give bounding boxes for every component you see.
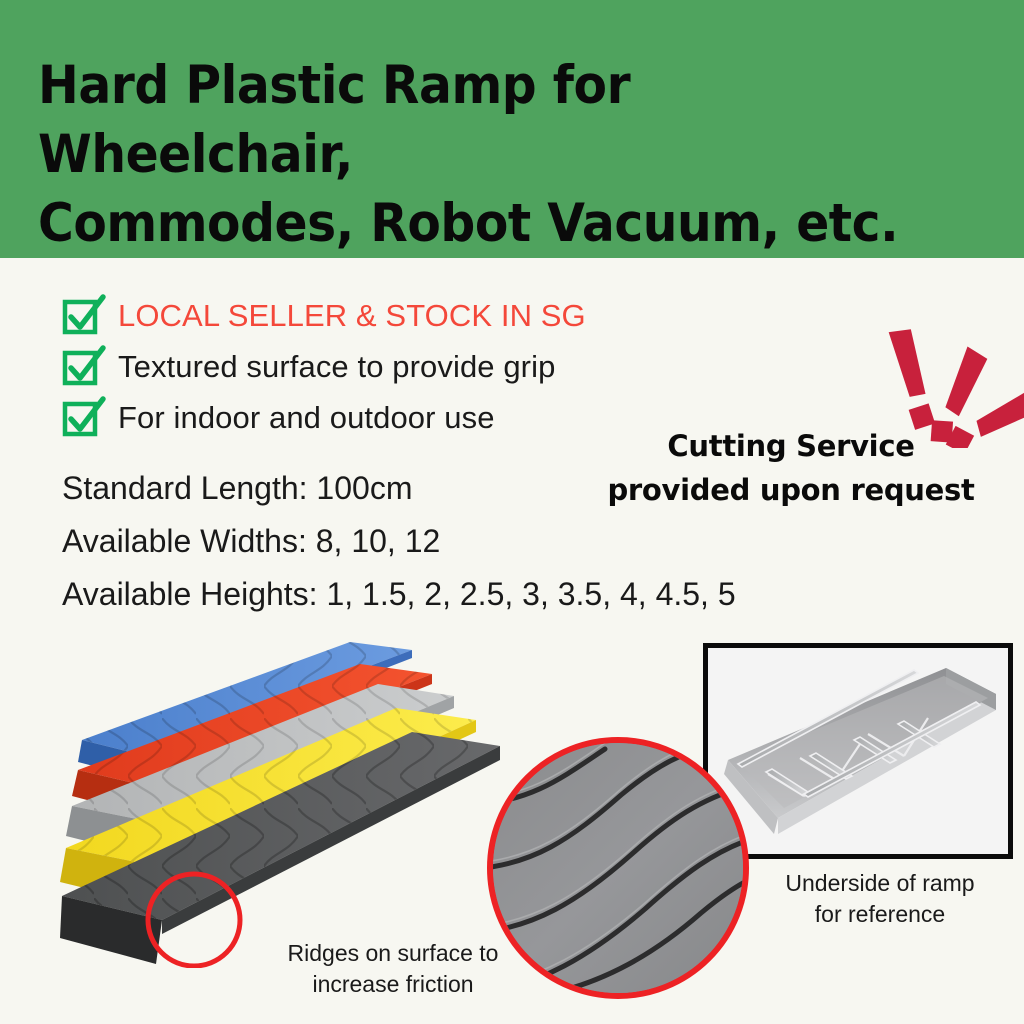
cutting-service-line-1: Cutting Service	[586, 424, 996, 468]
list-item-label: Textured surface to provide grip	[118, 349, 555, 385]
list-item-label: For indoor and outdoor use	[118, 400, 495, 436]
cutting-service-badge: Cutting Service provided upon request	[586, 424, 996, 512]
page-title: Hard Plastic Ramp for Wheelchair, Commod…	[38, 52, 912, 259]
checkbox-checked-icon	[62, 296, 102, 336]
list-item: Textured surface to provide grip	[62, 341, 682, 392]
ridge-callout-line-2: increase friction	[268, 969, 518, 1000]
header-banner: Hard Plastic Ramp for Wheelchair, Commod…	[0, 0, 1024, 258]
checkbox-checked-icon	[62, 347, 102, 387]
page-title-line-2: Commodes, Robot Vacuum, etc.	[38, 190, 912, 259]
spec-available-heights: Available Heights: 1, 1.5, 2, 2.5, 3, 3.…	[62, 568, 902, 621]
checkbox-checked-icon	[62, 398, 102, 438]
cutting-service-line-2: provided upon request	[586, 468, 996, 512]
page-title-line-1: Hard Plastic Ramp for Wheelchair,	[38, 52, 912, 190]
list-item-label: LOCAL SELLER & STOCK IN SG	[118, 298, 586, 334]
ramp-underside-photo	[703, 643, 1013, 859]
spec-available-widths: Available Widths: 8, 10, 12	[62, 515, 902, 568]
list-item: LOCAL SELLER & STOCK IN SG	[62, 290, 682, 341]
underside-caption-line-2: for reference	[750, 899, 1010, 930]
ridge-callout-line-1: Ridges on surface to	[268, 938, 518, 969]
underside-caption-line-1: Underside of ramp	[750, 868, 1010, 899]
ridge-callout-caption: Ridges on surface to increase friction	[268, 938, 518, 999]
magnified-ridge-detail	[487, 737, 749, 999]
underside-caption: Underside of ramp for reference	[750, 868, 1010, 930]
feature-checklist: LOCAL SELLER & STOCK IN SG Textured surf…	[62, 290, 682, 443]
stacked-ramps-photo	[60, 628, 540, 968]
